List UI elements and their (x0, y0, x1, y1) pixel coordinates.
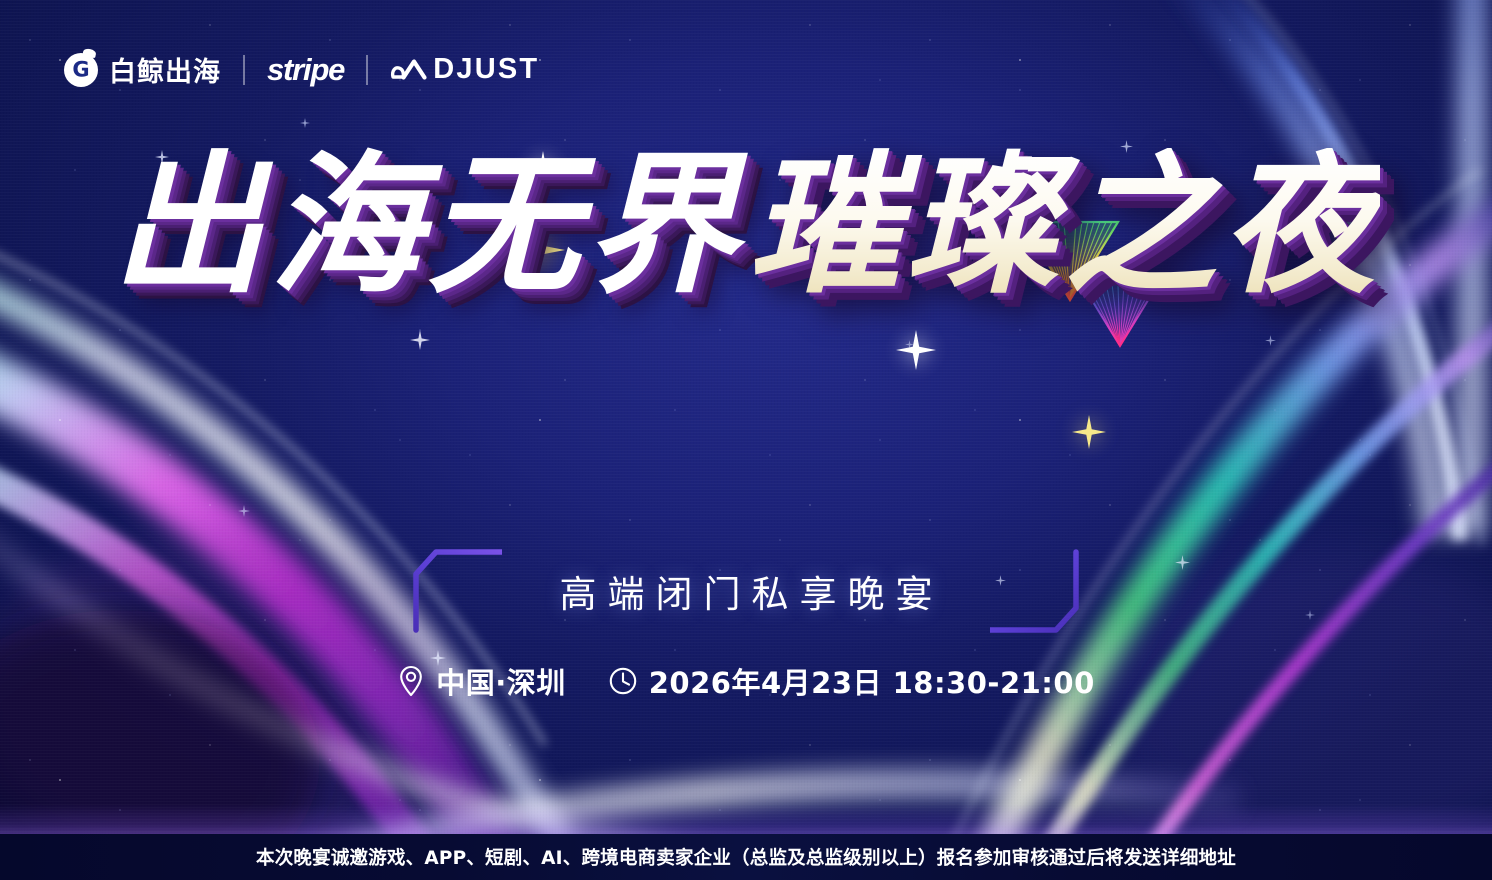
event-meta: 中国·深圳 2026年4月23日 18:30-21:00 (0, 660, 1492, 702)
sparkle-decor (1265, 335, 1276, 346)
subtitle-frame: 高端闭门私享晚宴 (410, 548, 1082, 634)
main-title: 出海无界 璀璨之夜 (0, 148, 1492, 303)
logo-bar: G 白鲸出海 stripe DJUST (64, 50, 539, 89)
footer-bar: 本次晚宴诚邀游戏、APP、短剧、AI、跨境电商卖家企业（总监及总监级别以上）报名… (0, 834, 1492, 880)
footer-glow (0, 804, 1492, 834)
clock-icon (608, 666, 638, 696)
ribbon-svg (0, 0, 1492, 880)
starfield (0, 0, 1492, 880)
sparkle-white-icon (410, 330, 430, 350)
logo-baijing-label: 白鲸出海 (109, 50, 221, 89)
event-location: 中国·深圳 (397, 660, 566, 702)
sparkle-gold-icon (1072, 415, 1106, 449)
whale-mark-letter: G (72, 59, 89, 80)
logo-divider (366, 55, 368, 85)
sparkle-white-icon (896, 330, 936, 370)
event-banner: G 白鲸出海 stripe DJUST (0, 0, 1492, 880)
logo-divider (243, 55, 245, 85)
location-pin-icon (397, 665, 425, 697)
subtitle-row: 高端闭门私享晚宴 (0, 548, 1492, 634)
ribbon-magenta-left-2 (0, 430, 470, 880)
subtitle-text: 高端闭门私享晚宴 (410, 564, 1082, 618)
whale-circle-icon: G (64, 53, 98, 87)
logo-stripe[interactable]: stripe (267, 52, 344, 88)
adjust-a-icon (390, 55, 430, 85)
title-line-2: 璀璨之夜 (748, 148, 1380, 303)
sparkle-decor (905, 340, 914, 349)
event-location-text: 中国·深圳 (436, 660, 566, 702)
ribbon-iris-right-3 (1100, 420, 1492, 880)
title-line-1: 出海无界 (112, 148, 744, 303)
logo-adjust[interactable]: DJUST (390, 53, 539, 86)
sparkle-decor (238, 505, 250, 517)
footer-note: 本次晚宴诚邀游戏、APP、短剧、AI、跨境电商卖家企业（总监及总监级别以上）报名… (256, 844, 1236, 870)
logo-adjust-label: DJUST (433, 53, 539, 86)
sparkle-decor (300, 118, 310, 128)
logo-baijing[interactable]: G 白鲸出海 (64, 50, 221, 89)
event-datetime: 2026年4月23日 18:30-21:00 (608, 660, 1095, 702)
grain-overlay (0, 0, 1492, 880)
background-ribbons (0, 0, 1492, 880)
event-datetime-text: 2026年4月23日 18:30-21:00 (649, 660, 1095, 702)
